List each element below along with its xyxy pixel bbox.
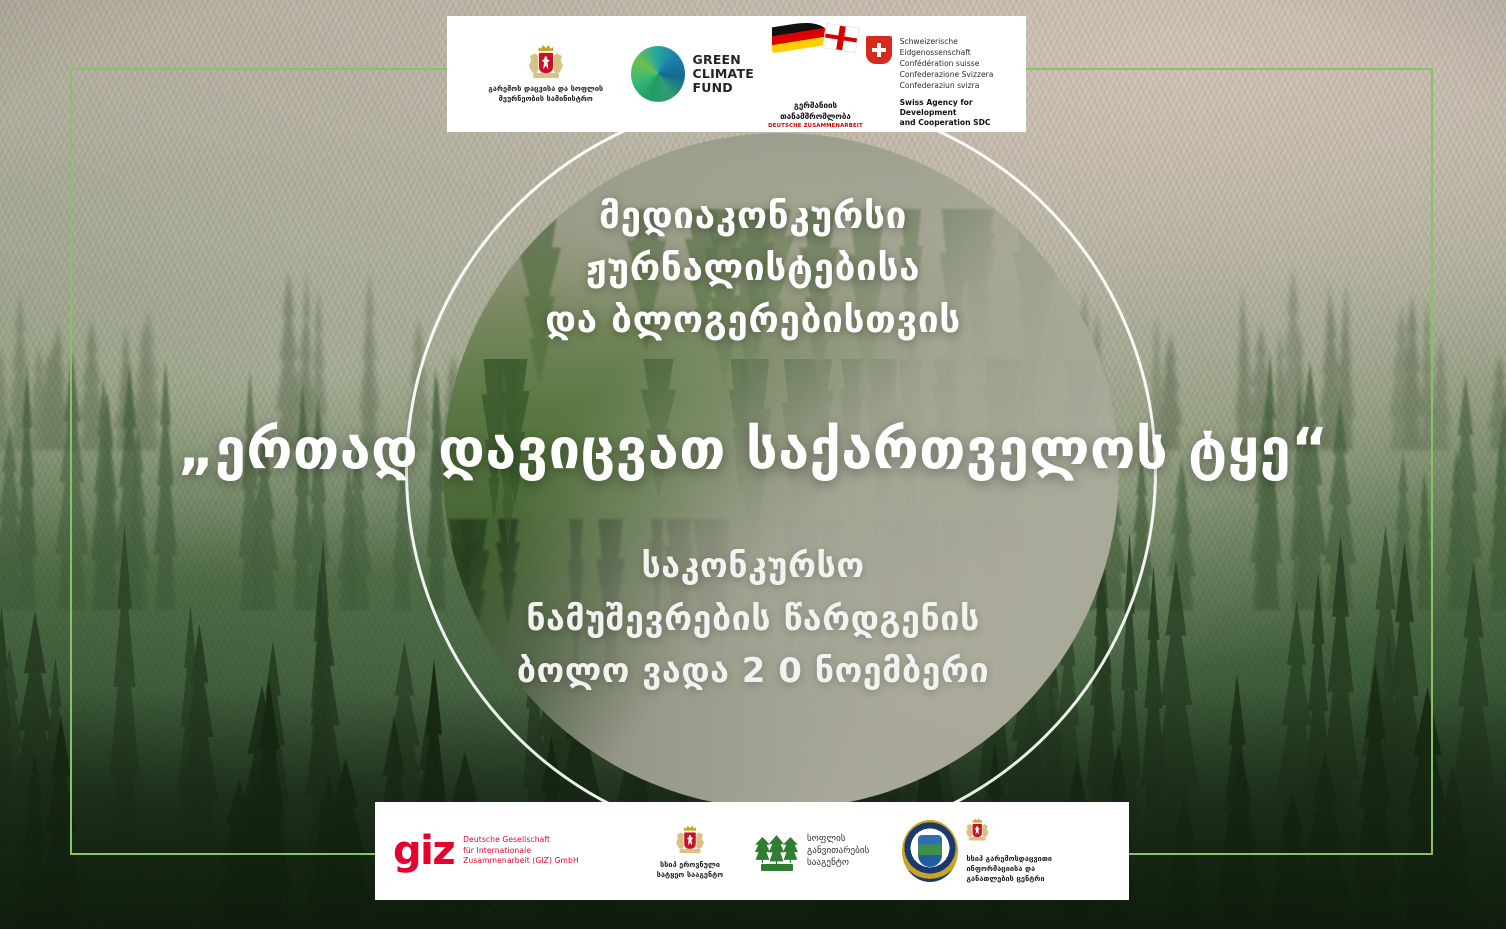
- sdc-bold-line-1: Swiss Agency for Development: [900, 98, 1012, 119]
- swiss-cross-icon: [866, 36, 892, 64]
- poster-main-title: „ერთად დავიცვათ საქართველოს ტყე“: [0, 418, 1506, 482]
- logo-giz: giz Deutsche Gesellschaft für Internatio…: [393, 833, 625, 869]
- logo-german-cooperation: გერმანიის თანამშრომლობა DEUTSCHE ZUSAMME…: [765, 19, 865, 129]
- logo-swiss-sdc: Schweizerische Eidgenossenschaft Confédé…: [866, 20, 1012, 129]
- subtitle-line-1: საკონკურსო: [0, 540, 1506, 593]
- round-seal-icon: [902, 820, 958, 882]
- georgia-coat-of-arms-icon: [529, 44, 563, 78]
- giz-line-3: Zusammenarbeit (GIZ) GmbH: [463, 856, 579, 867]
- german-coop-subline: DEUTSCHE ZUSAMMENARBEIT: [768, 123, 863, 129]
- giz-wordmark: giz: [393, 833, 454, 869]
- gcf-line-3: FUND: [693, 81, 754, 95]
- rda-line-3: სააგენტო: [807, 857, 870, 869]
- top-logo-bar: გარემოს დაცვისა და სოფლის მეურნეობის სამ…: [447, 16, 1026, 132]
- giz-line-1: Deutsche Gesellschaft: [463, 835, 579, 846]
- eiec-line-2: ინფორმაციისა და: [966, 864, 1052, 874]
- logo-ministry: გარემოს დაცვისა და სოფლის მეურნეობის სამ…: [461, 44, 631, 103]
- three-trees-icon: [755, 831, 799, 871]
- subtitle-block: საკონკურსო ნამუშევრების წარდგენის ბოლო ვ…: [0, 540, 1506, 698]
- logo-green-climate-fund: GREEN CLIMATE FUND: [631, 46, 766, 102]
- logo-environmental-education-centre: სსიპ გარემოსდაცვითი ინფორმაციისა და განა…: [902, 818, 1111, 883]
- logo-rural-development-agency: სოფლის განვითარების სააგენტო: [755, 831, 903, 871]
- sdc-line-1: Schweizerische Eidgenossenschaft: [900, 36, 1012, 58]
- eiec-line-1: სსიპ გარემოსდაცვითი: [966, 854, 1052, 864]
- subtitle-line-2: ნამუშევრების წარდგენის: [0, 593, 1506, 646]
- headline-line-3: და ბლოგერებისთვის: [0, 294, 1506, 346]
- german-coop-line-2: თანამშრომლობა: [768, 112, 863, 122]
- gcf-line-1: GREEN: [693, 53, 754, 67]
- georgia-coat-of-arms-icon: [676, 825, 704, 853]
- sdc-bold-line-2: and Cooperation SDC: [900, 118, 1012, 128]
- giz-line-2: für Internationale: [463, 846, 579, 857]
- bottom-logo-bar: giz Deutsche Gesellschaft für Internatio…: [375, 802, 1129, 900]
- logo-national-forestry-agency: სსიპ ეროვნული სატყეო სააგენტო: [625, 822, 755, 879]
- headline-line-1: მედიაკონკურსი: [0, 190, 1506, 242]
- rda-line-2: განვითარების: [807, 845, 870, 857]
- sdc-line-4: Confederaziun svizra: [900, 80, 1012, 91]
- forestry-line-1: სსიპ ეროვნული: [657, 860, 723, 870]
- headline-line-2: ჟურნალისტებისა: [0, 242, 1506, 294]
- subtitle-deadline-line: ბოლო ვადა 2 0 ნოემბერი: [0, 645, 1506, 698]
- rda-line-1: სოფლის: [807, 833, 870, 845]
- poster-canvas: გარემოს დაცვისა და სოფლის მეურნეობის სამ…: [0, 0, 1506, 929]
- forestry-line-2: სატყეო სააგენტო: [657, 870, 723, 880]
- gcf-line-2: CLIMATE: [693, 67, 754, 81]
- ministry-line-1: გარემოს დაცვისა და სოფლის: [488, 84, 603, 94]
- eiec-line-3: განათლების ცენტრი: [966, 874, 1052, 884]
- german-georgian-flag-ribbon-icon: [772, 19, 858, 105]
- sdc-line-3: Confederazione Svizzera: [900, 69, 1012, 80]
- ministry-line-2: მეურნეობის სამინისტრო: [488, 94, 603, 104]
- georgia-coat-of-arms-icon: [966, 818, 988, 840]
- green-climate-fund-sphere-icon: [631, 46, 685, 102]
- sdc-line-2: Confédération suisse: [900, 58, 1012, 69]
- headline-block: მედიაკონკურსი ჟურნალისტებისა და ბლოგერებ…: [0, 190, 1506, 345]
